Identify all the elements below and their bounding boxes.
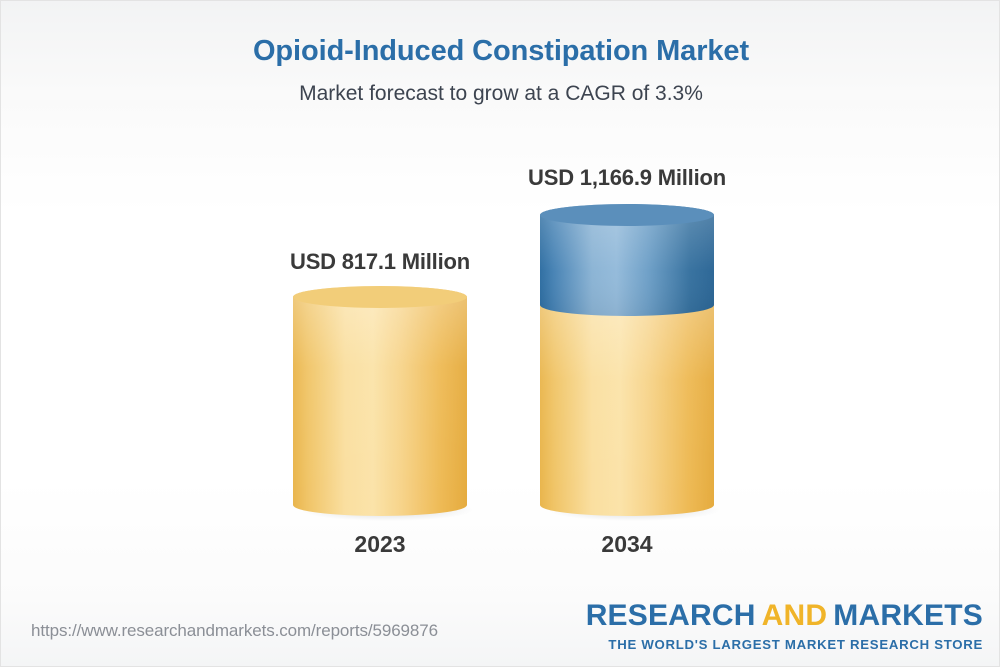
cylinder-2034-graphic <box>540 204 714 518</box>
infographic-canvas: Opioid-Induced Constipation Market Marke… <box>0 0 1000 667</box>
cylinder-bar-2034[interactable] <box>540 204 714 518</box>
bar-value-label-2034: USD 1,166.9 Million <box>528 165 726 191</box>
bar-value-label-2023: USD 817.1 Million <box>290 249 470 275</box>
logo-word-research: RESEARCH <box>586 599 756 632</box>
research-and-markets-logo[interactable]: RESEARCHANDMARKETS THE WORLD'S LARGEST M… <box>586 601 983 651</box>
bar-category-label-2023: 2023 <box>354 531 405 558</box>
logo-tagline: THE WORLD'S LARGEST MARKET RESEARCH STOR… <box>586 638 983 651</box>
logo-wordmark: RESEARCHANDMARKETS <box>586 601 983 631</box>
cylinder-2023-graphic <box>293 286 467 518</box>
chart-plot-area: USD 817.1 Million <box>1 1 1000 667</box>
bar-category-label-2034: 2034 <box>601 531 652 558</box>
logo-word-markets: MARKETS <box>833 599 983 632</box>
logo-word-and: AND <box>762 599 828 632</box>
cylinder-bar-2023[interactable] <box>293 286 467 518</box>
source-url-link[interactable]: https://www.researchandmarkets.com/repor… <box>31 621 438 641</box>
